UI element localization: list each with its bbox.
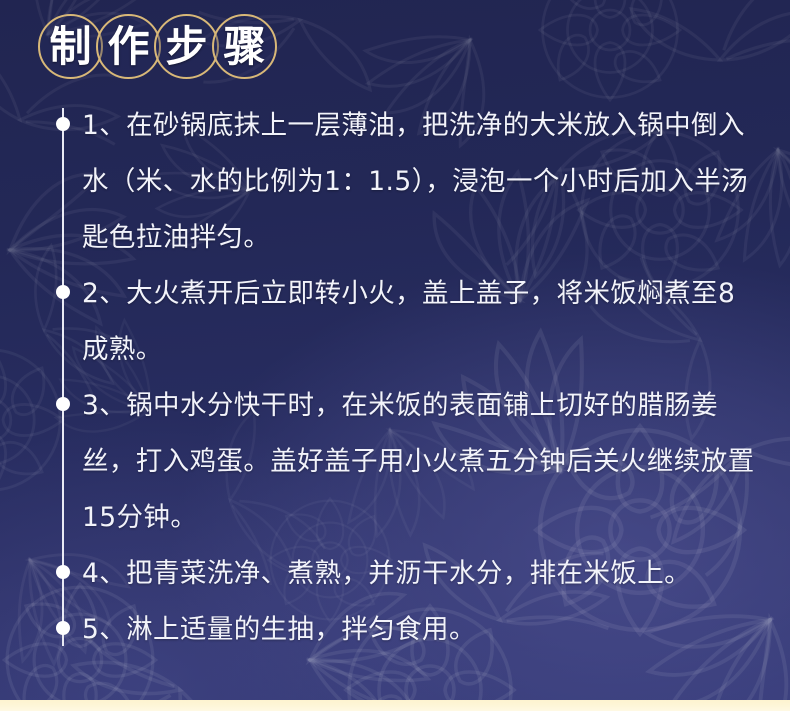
timeline-dot-3 (56, 397, 70, 411)
title-char-4: 骤 (223, 26, 265, 68)
title-char-1: 制 (49, 26, 91, 68)
timeline-dot-5 (56, 621, 70, 635)
step-item-1: 1、在砂锅底抹上一层薄油，把洗净的大米放入锅中倒入水（米、水的比例为1：1.5）… (82, 98, 760, 266)
step-item-4: 4、把青菜洗净、煮熟，并沥干水分，排在米饭上。 (82, 546, 760, 602)
title-char-circle-1: 制 (38, 14, 103, 79)
title-char-2: 作 (107, 26, 149, 68)
page-title: 制 作 步 骤 (38, 14, 270, 79)
title-char-circle-4: 骤 (212, 14, 277, 79)
recipe-steps-panel: 制 作 步 骤 1、在砂锅底抹上一层薄油，把洗净的大米放入锅中倒入水（米、水的比… (0, 0, 790, 711)
title-char-circle-3: 步 (154, 14, 219, 79)
timeline-dot-4 (56, 565, 70, 579)
title-char-circle-2: 作 (96, 14, 161, 79)
step-item-5: 5、淋上适量的生抽，拌匀食用。 (82, 602, 760, 658)
timeline-dot-1 (56, 117, 70, 131)
title-char-3: 步 (165, 26, 207, 68)
bottom-accent-strip (0, 700, 790, 711)
steps-list: 1、在砂锅底抹上一层薄油，把洗净的大米放入锅中倒入水（米、水的比例为1：1.5）… (82, 98, 760, 658)
step-item-2: 2、大火煮开后立即转小火，盖上盖子，将米饭焖煮至8成熟。 (82, 266, 760, 378)
step-item-3: 3、锅中水分快干时，在米饭的表面铺上切好的腊肠姜丝，打入鸡蛋。盖好盖子用小火煮五… (82, 378, 760, 546)
timeline-dot-2 (56, 285, 70, 299)
